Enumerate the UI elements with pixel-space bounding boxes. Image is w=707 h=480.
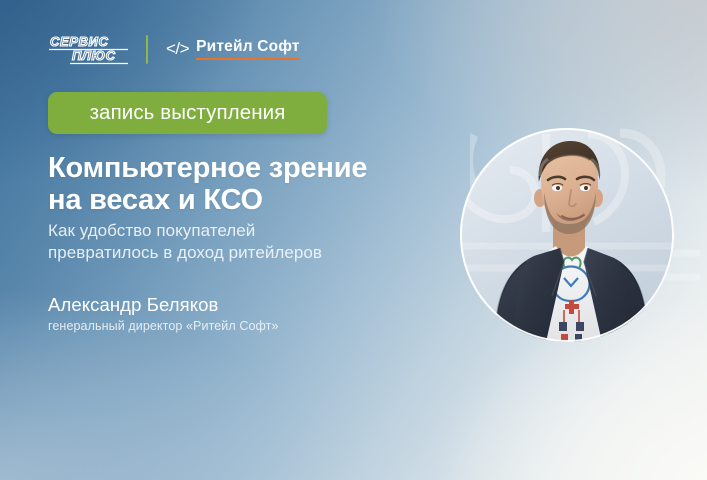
speaker-name: Александр Беляков	[48, 294, 428, 316]
retail-soft-logo-text: Ритейл Софт	[196, 38, 300, 60]
avatar	[460, 128, 674, 342]
retail-soft-logo[interactable]: </> Ритейл Софт	[166, 38, 300, 60]
servis-plus-logo[interactable]: СЕРВИС ПЛЮС	[48, 33, 126, 65]
speaker-portrait-photo	[460, 128, 674, 342]
vertical-divider	[146, 35, 148, 64]
servis-plus-line1: СЕРВИС	[50, 34, 108, 49]
logo-bar: СЕРВИС ПЛЮС </> Ритейл Софт	[48, 30, 300, 68]
page-title: Компьютерное зрение на весах и КСО	[48, 152, 468, 217]
servis-plus-line2: ПЛЮС	[72, 48, 116, 63]
code-brackets-icon: </>	[166, 40, 189, 57]
promo-slide-root: СЕРВИС ПЛЮС </> Ритейл Софт запись высту…	[0, 0, 707, 480]
speaker-role: генеральный директор «Ритейл Софт»	[48, 319, 428, 333]
headline-line-1: Компьютерное зрение	[48, 152, 468, 184]
page-subtitle: Как удобство покупателей превратилось в …	[48, 220, 448, 264]
recording-badge-label: запись выступления	[90, 101, 286, 125]
subtitle-line-2: превратилось в доход ритейлеров	[48, 242, 448, 264]
speaker-block: Александр Беляков генеральный директор «…	[48, 294, 428, 333]
recording-badge[interactable]: запись выступления	[48, 92, 327, 134]
headline-line-2: на весах и КСО	[48, 184, 468, 216]
subtitle-line-1: Как удобство покупателей	[48, 220, 448, 242]
